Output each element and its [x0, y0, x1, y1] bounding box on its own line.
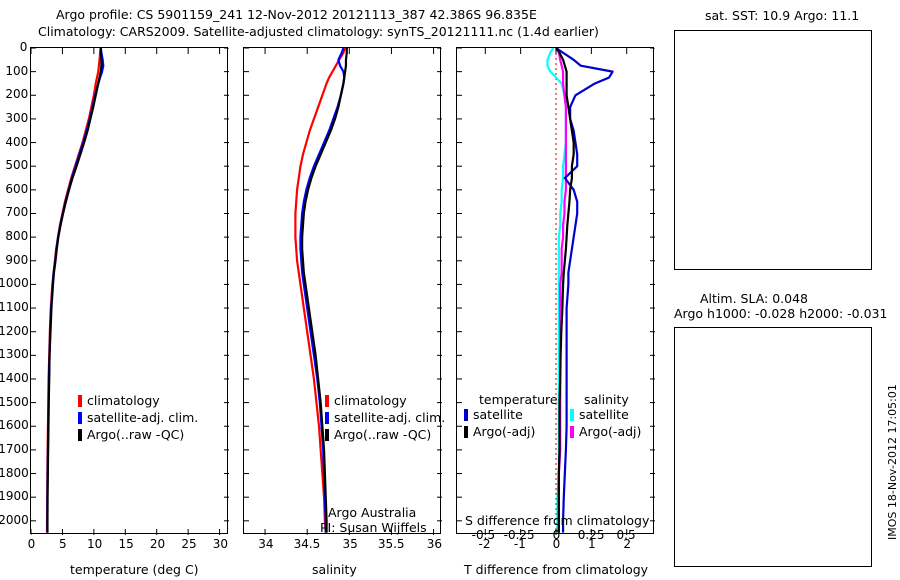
legend-item: Argo(..raw -QC)	[78, 426, 198, 443]
difference-temperature-xtick: 2	[623, 537, 631, 551]
legend-color-swatch	[570, 409, 574, 421]
difference-legend-group-temperature: temperature	[479, 392, 558, 407]
temperature-ytick: 2000	[0, 513, 29, 527]
temperature-ytick: 1800	[0, 466, 29, 480]
legend-label: Argo(-adj)	[579, 424, 641, 439]
sla-map-title-line2: Argo h1000: -0.028 h2000: -0.031	[674, 306, 887, 321]
difference-temperature-axis-label: T difference from climatology	[464, 562, 648, 577]
temperature-ytick: 200	[5, 87, 28, 101]
legend-label: Argo(..raw -QC)	[87, 427, 184, 442]
temperature-ytick: 1600	[0, 418, 29, 432]
legend-item: satellite	[570, 406, 641, 423]
temperature-xaxis-label: temperature (deg C)	[70, 562, 199, 577]
temperature-ytick: 700	[5, 205, 28, 219]
legend-color-swatch	[325, 395, 329, 407]
legend-color-swatch	[78, 429, 82, 441]
legend-item: satellite-adj. clim.	[325, 409, 445, 426]
difference-temperature-xtick: -1	[514, 537, 526, 551]
difference-temperature-xtick: -2	[478, 537, 490, 551]
legend-color-swatch	[325, 412, 329, 424]
legend-color-swatch	[464, 426, 468, 438]
temperature-ytick: 1200	[0, 324, 29, 338]
difference-legend-salinity: satelliteArgo(-adj)	[570, 406, 641, 440]
temperature-xtick: 25	[181, 537, 196, 551]
salinity-xtick: 36	[427, 537, 442, 551]
legend-label: satellite-adj. clim.	[334, 410, 445, 425]
legend-item: satellite	[464, 406, 535, 423]
sla-map-marker-layer	[674, 327, 872, 567]
temperature-ytick: 1700	[0, 442, 29, 456]
legend-label: climatology	[87, 393, 160, 408]
salinity-xtick: 35	[343, 537, 358, 551]
temperature-xtick: 5	[59, 537, 67, 551]
legend-label: Argo(..raw -QC)	[334, 427, 431, 442]
temperature-ytick: 900	[5, 253, 28, 267]
temperature-ytick: 0	[20, 40, 28, 54]
sst-map-marker-layer	[674, 30, 872, 270]
salinity-xaxis-label: salinity	[312, 562, 357, 577]
legend-color-swatch	[78, 395, 82, 407]
credit-pi: PI: Susan Wijffels	[320, 520, 427, 535]
temperature-ytick: 1900	[0, 489, 29, 503]
difference-temperature-xtick: 1	[588, 537, 596, 551]
difference-salinity-axis-label: S difference from climatology	[465, 513, 649, 528]
temperature-plot-canvas	[31, 48, 229, 535]
salinity-xtick: 35.5	[378, 537, 405, 551]
legend-label: climatology	[334, 393, 407, 408]
temperature-ytick: 100	[5, 64, 28, 78]
sst-map-title: sat. SST: 10.9 Argo: 11.1	[705, 8, 859, 23]
difference-temperature-xtick: 0	[553, 537, 561, 551]
temperature-ytick: 1000	[0, 276, 29, 290]
page-title-line1: Argo profile: CS 5901159_241 12-Nov-2012…	[56, 7, 537, 22]
legend-item: Argo(-adj)	[570, 423, 641, 440]
page-title-line2: Climatology: CARS2009. Satellite-adjuste…	[38, 24, 599, 39]
temperature-xtick: 20	[150, 537, 165, 551]
temperature-xtick: 30	[213, 537, 228, 551]
legend-color-swatch	[325, 429, 329, 441]
salinity-xtick: 34	[258, 537, 273, 551]
legend-label: satellite	[579, 407, 629, 422]
legend-item: Argo(..raw -QC)	[325, 426, 445, 443]
difference-legend-temperature: satelliteArgo(-adj)	[464, 406, 535, 440]
legend-color-swatch	[464, 409, 468, 421]
salinity-plot-canvas	[244, 48, 442, 535]
temperature-ytick: 1100	[0, 300, 29, 314]
legend-item: Argo(-adj)	[464, 423, 535, 440]
temperature-ytick: 1300	[0, 347, 29, 361]
difference-legend-group-salinity: salinity	[584, 392, 629, 407]
legend-color-swatch	[570, 426, 574, 438]
salinity-legend: climatologysatellite-adj. clim.Argo(..ra…	[325, 392, 445, 443]
temperature-xtick: 10	[87, 537, 102, 551]
temperature-ytick: 1400	[0, 371, 29, 385]
legend-item: satellite-adj. clim.	[78, 409, 198, 426]
temperature-legend: climatologysatellite-adj. clim.Argo(..ra…	[78, 392, 198, 443]
legend-label: satellite-adj. clim.	[87, 410, 198, 425]
imos-timestamp: IMOS 18-Nov-2012 17:05:01	[886, 384, 899, 540]
temperature-xtick: 15	[118, 537, 133, 551]
legend-item: climatology	[78, 392, 198, 409]
legend-label: satellite	[473, 407, 523, 422]
legend-label: Argo(-adj)	[473, 424, 535, 439]
credit-org: Argo Australia	[328, 505, 416, 520]
salinity-xtick: 34.5	[294, 537, 321, 551]
temperature-ytick: 400	[5, 135, 28, 149]
temperature-ytick: 600	[5, 182, 28, 196]
temperature-ytick: 1500	[0, 395, 29, 409]
difference-plot-canvas	[457, 48, 655, 535]
legend-item: climatology	[325, 392, 445, 409]
legend-color-swatch	[78, 412, 82, 424]
temperature-xtick: 0	[28, 537, 36, 551]
temperature-ytick: 300	[5, 111, 28, 125]
sla-map-title-line1: Altim. SLA: 0.048	[700, 291, 808, 306]
temperature-ytick: 800	[5, 229, 28, 243]
temperature-ytick: 500	[5, 158, 28, 172]
